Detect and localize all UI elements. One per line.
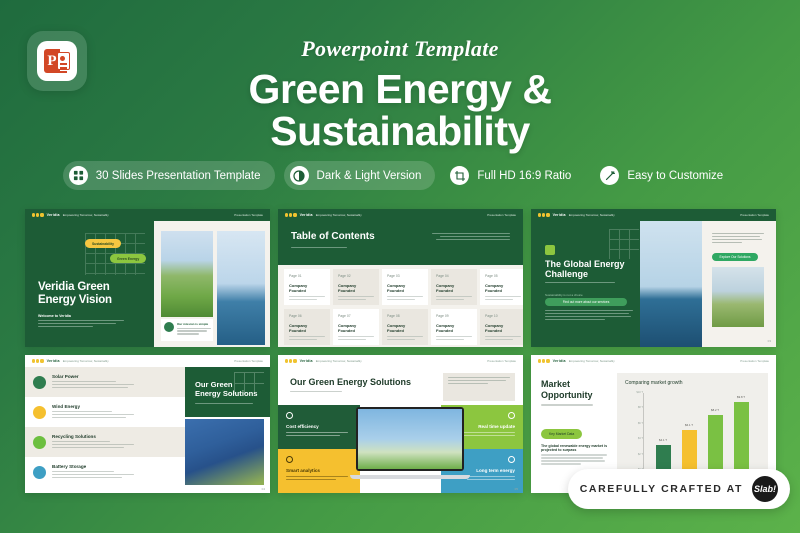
- toc-header-copy: [432, 233, 510, 242]
- slide-page-number: 04: [262, 487, 265, 491]
- toc-cell-label: Company Founded: [436, 323, 472, 333]
- solutions-image-solar-array: [185, 419, 264, 485]
- toc-subtitle: [291, 247, 351, 250]
- market-body: The global renewable energy market is pr…: [541, 444, 609, 464]
- challenge-cta-button[interactable]: Find out more about our services: [545, 298, 627, 306]
- laptop-screen: [356, 407, 464, 471]
- brand-tagline: Empowering Tomorrow, Sustainably: [569, 213, 615, 217]
- cover-subtitle-heading: Welcome to Veridia: [38, 314, 128, 318]
- chip-sustainability: Sustainability: [85, 239, 121, 248]
- toc-cell-label: Company Founded: [289, 283, 325, 293]
- toc-cell-label: Company Founded: [338, 323, 374, 333]
- quadrants-note: [443, 373, 515, 401]
- laptop-mockup: [350, 407, 470, 485]
- challenge-panel-copy: [712, 233, 764, 245]
- chip-green-energy: Green Energy: [110, 254, 146, 263]
- badge-easy-customize: Easy to Customize: [594, 161, 737, 190]
- toc-header: Veridia Empowering Tomorrow, Sustainably…: [278, 209, 523, 265]
- market-subtitle: [541, 404, 601, 405]
- brand-logo-icon: [285, 359, 297, 362]
- feature-badges: 30 Slides Presentation Template Dark & L…: [0, 161, 800, 190]
- quadrant-label: Cost efficiency: [286, 424, 352, 429]
- market-pill-badge: Key Market Data: [541, 429, 582, 439]
- quadrants-title: Our Green Energy Solutions: [290, 377, 411, 387]
- quadrants-subtitle: [290, 391, 350, 394]
- chart-title: Comparing market growth: [625, 380, 760, 386]
- toc-cell-page: Page 08: [387, 314, 423, 318]
- challenge-title: The Global Energy Challenge: [545, 259, 625, 280]
- brand-name: Veridia: [553, 359, 566, 363]
- brand-logo-icon: [285, 213, 297, 216]
- challenge-body-copy: [545, 310, 633, 322]
- slab-logo: Slab!: [752, 476, 778, 502]
- list-item-label: Wind Energy: [52, 404, 134, 409]
- wind-turbine-icon: [33, 406, 46, 419]
- toc-cell[interactable]: Page 08Company Founded: [382, 309, 428, 345]
- slide-page-number: 03: [768, 339, 771, 343]
- cover-card-heading: Our mission is simple: [177, 322, 211, 326]
- list-item-label: Recycling Solutions: [52, 434, 134, 439]
- toc-cell[interactable]: Page 06Company Founded: [284, 309, 330, 345]
- list-item[interactable]: Wind Energy: [25, 397, 185, 427]
- toc-cell[interactable]: Page 02Company Founded: [333, 269, 379, 305]
- slide-thumb-cover[interactable]: Veridia Empowering Tomorrow, Sustainably…: [25, 209, 270, 347]
- market-body-heading: The global renewable energy market is pr…: [541, 444, 609, 452]
- toc-cell-label: Company Founded: [387, 283, 423, 293]
- page-title-line2: Sustainability: [0, 110, 800, 152]
- laptop-base: [350, 475, 470, 479]
- toc-cell-page: Page 05: [485, 274, 521, 278]
- laptop-screen-image-wind-turbine: [358, 409, 462, 469]
- challenge-subtitle: [545, 282, 627, 285]
- toc-cell[interactable]: Page 09Company Founded: [431, 309, 477, 345]
- solutions-panel-title: Our GreenEnergy Solutions: [195, 380, 257, 398]
- brand-tagline: Empowering Tomorrow, Sustainably: [569, 359, 615, 363]
- slide-topbar: Veridia Empowering Tomorrow, Sustainably…: [25, 355, 270, 367]
- chart-bar: $9.8 T 2026: [734, 402, 749, 470]
- toc-cell-page: Page 09: [436, 314, 472, 318]
- list-item[interactable]: Solar Power: [25, 367, 185, 397]
- slide-thumb-table-of-contents[interactable]: Veridia Empowering Tomorrow, Sustainably…: [278, 209, 523, 347]
- slide-topbar: Veridia Empowering Tomorrow, Sustainably…: [531, 209, 776, 221]
- toc-cell[interactable]: Page 05Company Founded: [480, 269, 523, 305]
- toc-row-1: Page 01Company Founded Page 02Company Fo…: [278, 265, 523, 305]
- chart-bar: $4.1 T 2020: [656, 445, 671, 470]
- cover-image-wind-field: [161, 231, 213, 317]
- badge-slides-count: 30 Slides Presentation Template: [63, 161, 275, 190]
- brand-tagline: Empowering Tomorrow, Sustainably: [63, 359, 109, 363]
- cover-image-offshore-turbine: [217, 231, 265, 345]
- contrast-circle-icon: [290, 166, 309, 185]
- toc-cell-label: Company Founded: [289, 323, 325, 333]
- quadrant-smart-analytics[interactable]: Smart analytics: [278, 449, 360, 493]
- dollar-circle-icon: [286, 412, 293, 419]
- market-title-line1: Market: [541, 379, 570, 389]
- magic-wand-icon: [600, 166, 619, 185]
- slide-topbar: Veridia Empowering Tomorrow, Sustainably…: [25, 209, 270, 221]
- toc-cell-page: Page 10: [485, 314, 521, 318]
- slide-thumbnail-grid: Veridia Empowering Tomorrow, Sustainably…: [25, 209, 776, 493]
- slide-thumb-solutions-quadrants[interactable]: Veridia Empowering Tomorrow, Sustainably…: [278, 355, 523, 493]
- slide-topbar: Veridia Empowering Tomorrow, Sustainably…: [278, 209, 523, 221]
- toc-cell[interactable]: Page 01Company Founded: [284, 269, 330, 305]
- brand-tagline: Empowering Tomorrow, Sustainably: [63, 213, 109, 217]
- page-header: Powerpoint Template Green Energy & Susta…: [0, 36, 800, 152]
- challenge-panel-button[interactable]: Explore Our Solutions: [712, 253, 758, 261]
- brand-name: Veridia: [47, 359, 60, 363]
- toc-cell[interactable]: Page 10Company Founded: [480, 309, 523, 345]
- cover-mission-card: Our mission is simple: [161, 319, 213, 341]
- refresh-circle-icon: [508, 412, 515, 419]
- toc-cell[interactable]: Page 04Company Founded: [431, 269, 477, 305]
- solutions-panel-subtitle: [195, 403, 257, 406]
- badge-easy-customize-label: Easy to Customize: [627, 170, 723, 182]
- bar-value-label: $9.8 T: [737, 395, 745, 399]
- quadrant-cost-efficiency[interactable]: Cost efficiency: [278, 405, 360, 449]
- chart-plot-area: $4.1 T 2020 $6.1 T 2022 $8.2 T 2024 $9.8…: [643, 393, 760, 471]
- brand-name: Veridia: [300, 359, 313, 363]
- badge-full-hd: Full HD 16:9 Ratio: [444, 161, 585, 190]
- toc-cell-label: Company Founded: [387, 323, 423, 333]
- battery-icon: [33, 466, 46, 479]
- badge-slides-count-label: 30 Slides Presentation Template: [96, 170, 261, 182]
- brand-logo-icon: [538, 359, 550, 362]
- slides-grid-icon: [69, 166, 88, 185]
- crafted-badge: CAREFULLY CRAFTED AT Slab!: [568, 469, 790, 509]
- slide-corner-label: Presentation Template: [487, 359, 516, 363]
- toc-cell-page: Page 04: [436, 274, 472, 278]
- solutions-list: Solar Power Wind Energy Recycling Soluti…: [25, 367, 185, 493]
- toc-cell-page: Page 06: [289, 314, 325, 318]
- bar-value-label: $4.1 T: [659, 438, 667, 442]
- toc-title: Table of Contents: [291, 231, 375, 242]
- cover-title: Veridia GreenEnergy Vision: [38, 281, 112, 307]
- brand-logo-icon: [32, 213, 44, 216]
- solar-panel-icon: [33, 376, 46, 389]
- challenge-panel-image-wind-farm: [712, 267, 764, 327]
- leaf-circle-icon: [508, 456, 515, 463]
- brand-logo-icon: [538, 213, 550, 216]
- slide-thumb-solutions-list[interactable]: Veridia Empowering Tomorrow, Sustainably…: [25, 355, 270, 493]
- toc-cell-label: Company Founded: [485, 283, 521, 293]
- brand-name: Veridia: [553, 213, 566, 217]
- slide-page-number: 05: [515, 487, 518, 491]
- badge-dark-light-label: Dark & Light Version: [317, 170, 422, 182]
- slide-corner-label: Presentation Template: [234, 213, 263, 217]
- slide-corner-label: Presentation Template: [234, 359, 263, 363]
- challenge-title-line2: Challenge: [545, 269, 588, 279]
- toc-cell-page: Page 01: [289, 274, 325, 278]
- slide-corner-label: Presentation Template: [740, 359, 769, 363]
- challenge-image-offshore-wind: [640, 221, 702, 347]
- toc-cell-label: Company Founded: [338, 283, 374, 293]
- market-title-line2: Opportunity: [541, 390, 593, 400]
- brand-tagline: Empowering Tomorrow, Sustainably: [316, 359, 362, 363]
- chart-bar-icon: [286, 456, 293, 463]
- toc-cell-page: Page 02: [338, 274, 374, 278]
- crafted-text: CAREFULLY CRAFTED AT: [580, 483, 743, 495]
- crop-frame-icon: [450, 166, 469, 185]
- market-title: Market Opportunity: [541, 379, 607, 400]
- solutions-panel: Our GreenEnergy Solutions: [185, 367, 270, 417]
- brand-tagline: Empowering Tomorrow, Sustainably: [316, 213, 362, 217]
- toc-cell-label: Company Founded: [485, 323, 521, 333]
- toc-row-2: Page 06Company Founded Page 07Company Fo…: [278, 305, 523, 345]
- chart-bars: $4.1 T 2020 $6.1 T 2022 $8.2 T 2024 $9.8…: [644, 393, 760, 470]
- slide-corner-label: Presentation Template: [740, 213, 769, 217]
- toc-cell[interactable]: Page 07Company Founded: [333, 309, 379, 345]
- list-item-label: Solar Power: [52, 374, 134, 379]
- slide-topbar: Veridia Empowering Tomorrow, Sustainably…: [278, 355, 523, 367]
- slide-thumb-global-energy-challenge[interactable]: Veridia Empowering Tomorrow, Sustainably…: [531, 209, 776, 347]
- leaf-badge-icon: [545, 245, 555, 255]
- list-item-label: Battery Storage: [52, 464, 134, 469]
- chart-bar: $6.1 T 2022: [682, 430, 697, 470]
- slide-topbar: Veridia Empowering Tomorrow, Sustainably…: [531, 355, 776, 367]
- badge-full-hd-label: Full HD 16:9 Ratio: [477, 170, 571, 182]
- toc-cell-page: Page 07: [338, 314, 374, 318]
- toc-cell[interactable]: Page 03Company Founded: [382, 269, 428, 305]
- page-title-line1: Green Energy &: [0, 68, 800, 110]
- slide-corner-label: Presentation Template: [487, 213, 516, 217]
- leaf-icon: [164, 322, 174, 332]
- bar-value-label: $8.2 T: [711, 408, 719, 412]
- recycling-icon: [33, 436, 46, 449]
- quadrant-label: Smart analytics: [286, 468, 352, 473]
- brand-name: Veridia: [300, 213, 313, 217]
- toc-cell-label: Company Founded: [436, 283, 472, 293]
- list-item[interactable]: Recycling Solutions: [25, 427, 185, 457]
- challenge-small-label: Sustainability is not a choice: [545, 293, 583, 297]
- brand-name: Veridia: [47, 213, 60, 217]
- brand-logo-icon: [32, 359, 44, 362]
- challenge-title-line1: The Global Energy: [545, 259, 625, 269]
- chart-y-axis: $10 T $8 T $6 T $4 T $2 T $0 T: [623, 391, 643, 471]
- bar-value-label: $6.1 T: [685, 423, 693, 427]
- badge-dark-light: Dark & Light Version: [284, 161, 436, 190]
- toc-cell-page: Page 03: [387, 274, 423, 278]
- chart-bar: $8.2 T 2024: [708, 415, 723, 470]
- decorative-grid: [609, 229, 639, 259]
- cover-subtitle: Welcome to Veridia: [38, 314, 128, 329]
- header-eyebrow: Powerpoint Template: [0, 36, 800, 62]
- list-item[interactable]: Battery Storage: [25, 457, 185, 487]
- y-tick: $10 T: [636, 391, 643, 394]
